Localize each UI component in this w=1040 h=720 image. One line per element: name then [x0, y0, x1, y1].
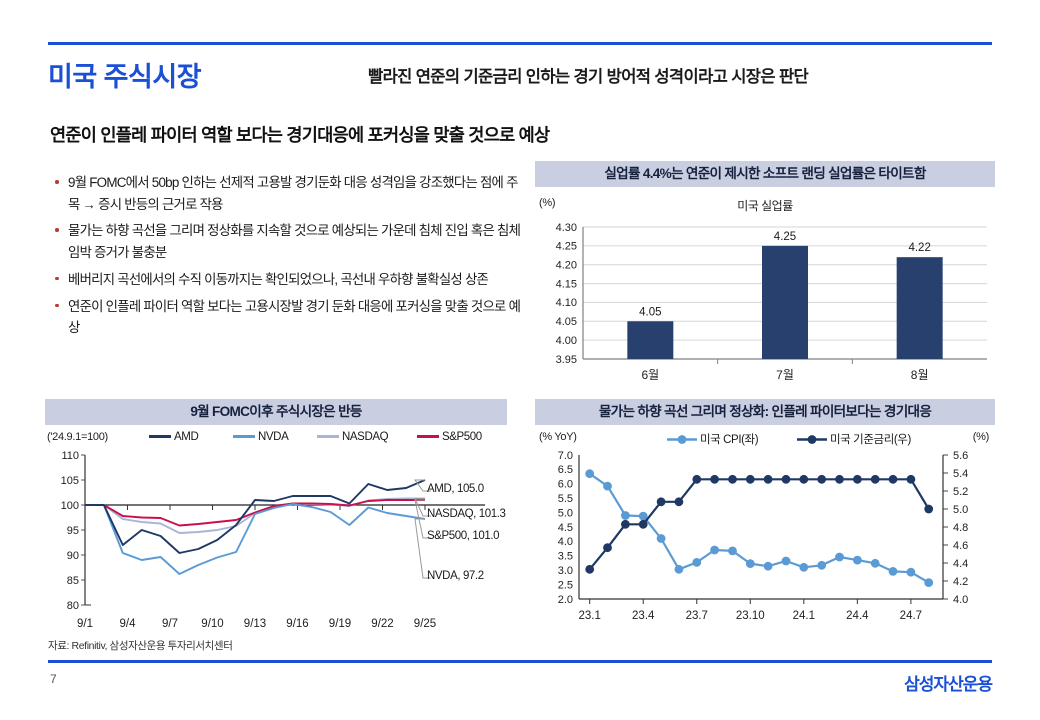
- svg-text:7월: 7월: [776, 368, 794, 382]
- panel-heading-unemployment: 실업률 4.4%는 연준이 제시한 소프트 랜딩 실업률은 타이트함: [535, 161, 995, 187]
- svg-text:85: 85: [67, 575, 79, 587]
- bullet-text: 물가는 하향 곡선을 그리며 정상화를 지속할 것으로 예상되는 가운데 침체 …: [68, 223, 520, 260]
- bullet-text: 연준이 인플레 파이터 역할 보다는 고용시장발 경기 둔화 대응에 포커싱을 …: [68, 299, 520, 336]
- svg-text:3.5: 3.5: [558, 551, 573, 563]
- svg-text:4.25: 4.25: [556, 241, 577, 253]
- legend-policy-rate: 미국 기준금리(우): [797, 431, 911, 447]
- bullet-dot-icon: [55, 228, 59, 232]
- svg-text:5.4: 5.4: [953, 468, 968, 480]
- legend-label: 미국 기준금리(우): [830, 434, 911, 446]
- unemployment-plot: 3.954.004.054.104.154.204.254.304.056월4.…: [535, 219, 995, 399]
- svg-text:100: 100: [61, 500, 79, 512]
- legend-swatch-amd: [149, 435, 171, 438]
- svg-text:24.7: 24.7: [900, 610, 922, 622]
- svg-text:9/13: 9/13: [244, 618, 266, 630]
- panel-heading-stocks: 9월 FOMC이후 주식시장은 반등: [45, 399, 507, 425]
- svg-text:2.0: 2.0: [558, 594, 573, 606]
- svg-text:4.15: 4.15: [556, 278, 577, 290]
- svg-text:4.10: 4.10: [556, 297, 577, 309]
- svg-text:105: 105: [61, 475, 79, 487]
- legend-sp500: S&P500: [417, 431, 482, 443]
- svg-text:5.0: 5.0: [953, 504, 968, 516]
- panel-stocks: 9월 FOMC이후 주식시장은 반등 ('24.9.1=100) AMD NVD…: [45, 399, 507, 640]
- series-end-label-sp500: S&P500, 101.0: [427, 530, 499, 542]
- svg-text:4.5: 4.5: [558, 522, 573, 534]
- svg-text:23.4: 23.4: [632, 610, 655, 622]
- svg-text:24.1: 24.1: [793, 610, 815, 622]
- legend-swatch-nasdaq: [317, 435, 339, 438]
- legend-marker-cpi: [667, 434, 697, 445]
- svg-text:5.0: 5.0: [558, 507, 573, 519]
- svg-text:4.05: 4.05: [639, 306, 661, 318]
- legend-label: AMD: [174, 431, 198, 443]
- series-end-label-nvda: NVDA, 97.2: [427, 570, 484, 582]
- svg-text:23.1: 23.1: [579, 610, 601, 622]
- svg-text:7.0: 7.0: [558, 450, 573, 462]
- panel-unemployment: 실업률 4.4%는 연준이 제시한 소프트 랜딩 실업률은 타이트함 (%) 미…: [535, 161, 995, 402]
- bullet-text: 9월 FOMC에서 50bp 인하는 선제적 고용발 경기둔화 대응 성격임을 …: [68, 175, 518, 212]
- y-axis-unit: ('24.9.1=100): [47, 431, 108, 443]
- legend-nvda: NVDA: [233, 431, 288, 443]
- y-axis-right-unit: (%): [973, 431, 989, 443]
- list-item: 9월 FOMC에서 50bp 인하는 선제적 고용발 경기둔화 대응 성격임을 …: [54, 172, 524, 215]
- series-end-label-amd: AMD, 105.0: [427, 483, 484, 495]
- legend-marker-policy-rate: [797, 434, 827, 445]
- y-axis-left-unit: (% YoY): [539, 431, 577, 443]
- svg-text:5.2: 5.2: [953, 486, 968, 498]
- svg-text:24.4: 24.4: [846, 610, 869, 622]
- svg-text:9/1: 9/1: [77, 618, 93, 630]
- page-subtitle: 빨라진 연준의 기준금리 인하는 경기 방어적 성격이라고 시장은 판단: [368, 63, 808, 87]
- svg-text:4.25: 4.25: [774, 231, 796, 243]
- list-item: 베버리지 곡선에서의 수직 이동까지는 확인되었으나, 곡선내 우하향 불확실성…: [54, 269, 524, 291]
- svg-text:4.20: 4.20: [556, 260, 577, 272]
- svg-text:9/22: 9/22: [371, 618, 393, 630]
- panel-cpi: 물가는 하향 곡선 그리며 정상화: 인플레 파이터보다는 경기대응 (% Yo…: [535, 399, 995, 640]
- header-rule: [48, 42, 992, 45]
- series-end-label-nasdaq: NASDAQ, 101.3: [427, 508, 506, 520]
- svg-text:9/10: 9/10: [201, 618, 223, 630]
- page-title: 미국 주식시장: [48, 55, 201, 94]
- svg-text:23.7: 23.7: [686, 610, 708, 622]
- svg-text:5.5: 5.5: [558, 493, 573, 505]
- svg-text:6.0: 6.0: [558, 479, 573, 491]
- legend-label: NASDAQ: [342, 431, 388, 443]
- bullet-dot-icon: [55, 180, 59, 184]
- svg-text:2.5: 2.5: [558, 579, 573, 591]
- svg-text:4.05: 4.05: [556, 316, 577, 328]
- svg-text:9/4: 9/4: [120, 618, 137, 630]
- svg-text:4.30: 4.30: [556, 222, 577, 234]
- legend-label: 미국 CPI(좌): [700, 434, 758, 446]
- chart-stocks: ('24.9.1=100) AMD NVDA NASDAQ S&P500 808…: [45, 425, 507, 640]
- chart-title: 미국 실업률: [535, 197, 995, 214]
- slide-root: 미국 주식시장 빨라진 연준의 기준금리 인하는 경기 방어적 성격이라고 시장…: [0, 0, 1040, 720]
- svg-text:4.4: 4.4: [953, 558, 968, 570]
- list-item: 물가는 하향 곡선을 그리며 정상화를 지속할 것으로 예상되는 가운데 침체 …: [54, 220, 524, 263]
- bullet-dot-icon: [55, 277, 59, 281]
- svg-text:4.6: 4.6: [953, 540, 968, 552]
- legend-label: S&P500: [442, 431, 482, 443]
- svg-text:8월: 8월: [911, 368, 929, 382]
- chart-cpi: (% YoY) (%) 미국 CPI(좌) 미국 기준금리(우) 2.02.53…: [535, 425, 995, 640]
- svg-text:6.5: 6.5: [558, 464, 573, 476]
- legend-cpi: 미국 CPI(좌): [667, 431, 758, 447]
- legend-swatch-sp500: [417, 435, 439, 438]
- svg-text:4.0: 4.0: [953, 594, 968, 606]
- svg-text:4.00: 4.00: [556, 335, 577, 347]
- svg-text:4.8: 4.8: [953, 522, 968, 534]
- bullet-list: 9월 FOMC에서 50bp 인하는 선제적 고용발 경기둔화 대응 성격임을 …: [54, 172, 524, 344]
- chart-unemployment: (%) 미국 실업률 3.954.004.054.104.154.204.254…: [535, 187, 995, 402]
- source-note: 자료: Refinitiv, 삼성자산운용 투자리서치센터: [48, 638, 232, 653]
- svg-text:3.95: 3.95: [556, 354, 577, 366]
- stocks-plot: 808590951001051109/19/49/79/109/139/169/…: [45, 447, 507, 637]
- svg-text:3.0: 3.0: [558, 565, 573, 577]
- cpi-plot: 2.02.53.03.54.04.55.05.56.06.57.04.04.24…: [535, 447, 995, 637]
- legend-nasdaq: NASDAQ: [317, 431, 388, 443]
- footer-rule: [48, 660, 992, 663]
- svg-text:4.2: 4.2: [953, 576, 968, 588]
- svg-text:4.22: 4.22: [908, 242, 930, 254]
- svg-text:95: 95: [67, 525, 79, 537]
- svg-text:5.6: 5.6: [953, 450, 968, 462]
- bullet-text: 베버리지 곡선에서의 수직 이동까지는 확인되었으나, 곡선내 우하향 불확실성…: [68, 272, 488, 287]
- page-number: 7: [50, 672, 57, 686]
- svg-text:90: 90: [67, 550, 79, 562]
- svg-text:9/16: 9/16: [286, 618, 308, 630]
- svg-text:9/25: 9/25: [414, 618, 436, 630]
- panel-heading-cpi: 물가는 하향 곡선 그리며 정상화: 인플레 파이터보다는 경기대응: [535, 399, 995, 425]
- list-item: 연준이 인플레 파이터 역할 보다는 고용시장발 경기 둔화 대응에 포커싱을 …: [54, 296, 524, 339]
- svg-text:4.0: 4.0: [558, 536, 573, 548]
- svg-text:23.10: 23.10: [736, 610, 765, 622]
- bullet-dot-icon: [55, 304, 59, 308]
- svg-text:110: 110: [61, 450, 79, 462]
- lead-statement: 연준이 인플레 파이터 역할 보다는 경기대응에 포커싱을 맞출 것으로 예상: [50, 122, 549, 147]
- svg-text:9/7: 9/7: [162, 618, 178, 630]
- legend-amd: AMD: [149, 431, 198, 443]
- legend-swatch-nvda: [233, 435, 255, 438]
- brand-logo: 삼성자산운용: [904, 670, 992, 695]
- legend-label: NVDA: [258, 431, 288, 443]
- svg-text:9/19: 9/19: [329, 618, 351, 630]
- svg-text:6월: 6월: [641, 368, 659, 382]
- svg-text:80: 80: [67, 600, 79, 612]
